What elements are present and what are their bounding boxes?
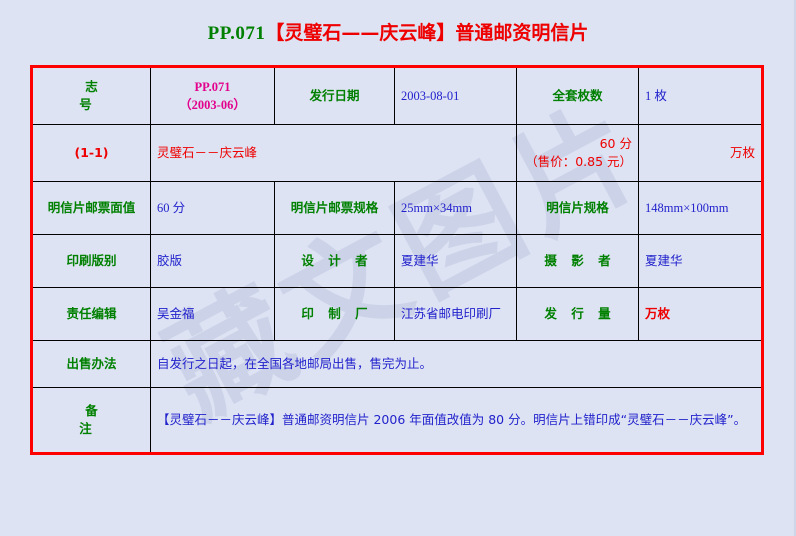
label-sales-method: 出售办法 xyxy=(32,341,151,388)
label-printing-house: 印 制 厂 xyxy=(275,288,395,341)
value-printing-house: 江苏省邮电印刷厂 xyxy=(395,288,517,341)
label-stamp-face-value: 明信片邮票面值 xyxy=(32,182,151,235)
value-remarks: 【灵璧石－－庆云峰】普通邮资明信片 2006 年面值改值为 80 分。明信片上错… xyxy=(151,388,763,454)
label-designer: 设 计 者 xyxy=(275,235,395,288)
label-print-run: 发 行 量 xyxy=(517,288,639,341)
label-printing-process: 印刷版别 xyxy=(32,235,151,288)
retail-price: （售价：0.85 元） xyxy=(523,153,632,171)
value-designer: 夏建华 xyxy=(395,235,517,288)
label-issue-date: 发行日期 xyxy=(275,67,395,125)
table-row: 责任编辑 吴金福 印 制 厂 江苏省邮电印刷厂 发 行 量 万枚 xyxy=(32,288,763,341)
value-quantity: 万枚 xyxy=(639,125,763,182)
value-stamp-size: 25mm×34mm xyxy=(395,182,517,235)
table-row: 志 号 PP.071 （2003-06） 发行日期 2003-08-01 全套枚… xyxy=(32,67,763,125)
label-remarks: 备 注 xyxy=(32,388,151,454)
value-print-run: 万枚 xyxy=(639,288,763,341)
label-item-serial: (1-1) xyxy=(32,125,151,182)
table-row: 明信片邮票面值 60 分 明信片邮票规格 25mm×34mm 明信片规格 148… xyxy=(32,182,763,235)
value-managing-editor: 吴金福 xyxy=(151,288,275,341)
label-postcard-size: 明信片规格 xyxy=(517,182,639,235)
label-stamp-size: 明信片邮票规格 xyxy=(275,182,395,235)
value-face-value-price: 60 分 （售价：0.85 元） xyxy=(517,125,639,182)
catalog-code-year: （2003-06） xyxy=(157,96,268,114)
label-set-count: 全套枚数 xyxy=(517,67,639,125)
table-row: 印刷版别 胶版 设 计 者 夏建华 摄 影 者 夏建华 xyxy=(32,235,763,288)
value-stamp-face-value: 60 分 xyxy=(151,182,275,235)
face-value: 60 分 xyxy=(523,135,632,153)
value-catalog-code: PP.071 （2003-06） xyxy=(151,67,275,125)
value-sales-method: 自发行之日起，在全国各地邮局出售，售完为止。 xyxy=(151,341,763,388)
label-serial-no: 志 号 xyxy=(32,67,151,125)
catalog-code: PP.071 xyxy=(157,78,268,96)
value-item-name: 灵璧石－－庆云峰 xyxy=(151,125,517,182)
postcard-info-table: 志 号 PP.071 （2003-06） 发行日期 2003-08-01 全套枚… xyxy=(30,65,764,455)
value-set-count: 1 枚 xyxy=(639,67,763,125)
label-photographer: 摄 影 者 xyxy=(517,235,639,288)
value-issue-date: 2003-08-01 xyxy=(395,67,517,125)
table-row: 备 注 【灵璧石－－庆云峰】普通邮资明信片 2006 年面值改值为 80 分。明… xyxy=(32,388,763,454)
page-title-code: PP.071 xyxy=(208,23,266,44)
value-photographer: 夏建华 xyxy=(639,235,763,288)
page-container: 藏文图片 PP.071【灵璧石——庆云峰】普通邮资明信片 志 号 PP.071 … xyxy=(0,0,796,536)
value-printing-process: 胶版 xyxy=(151,235,275,288)
table-row: 出售办法 自发行之日起，在全国各地邮局出售，售完为止。 xyxy=(32,341,763,388)
label-managing-editor: 责任编辑 xyxy=(32,288,151,341)
value-postcard-size: 148mm×100mm xyxy=(639,182,763,235)
table-row: (1-1) 灵璧石－－庆云峰 60 分 （售价：0.85 元） 万枚 xyxy=(32,125,763,182)
page-title: PP.071【灵璧石——庆云峰】普通邮资明信片 xyxy=(0,18,796,45)
page-title-main: 【灵璧石——庆云峰】普通邮资明信片 xyxy=(265,22,588,44)
